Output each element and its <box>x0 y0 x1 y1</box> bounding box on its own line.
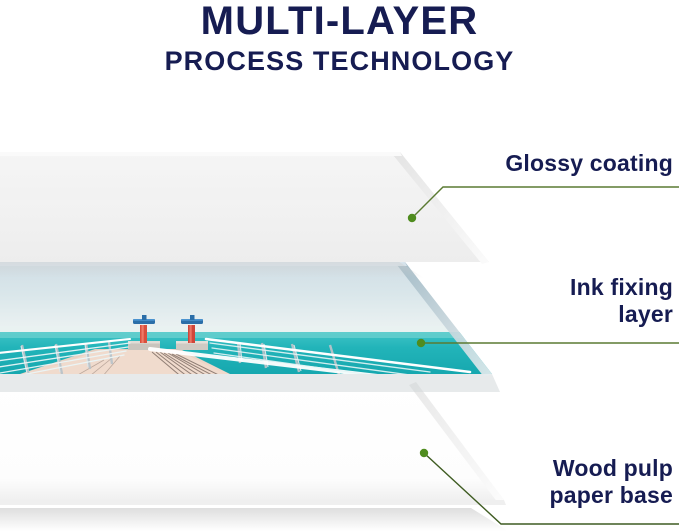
title-line-1: MULTI-LAYER <box>0 0 679 41</box>
label-ink-fixing-layer: Ink fixing layer <box>353 274 673 328</box>
label-wood-pulp-paper-base: Wood pulp paper base <box>353 455 673 509</box>
page-title: MULTI-LAYER PROCESS TECHNOLOGY <box>0 0 679 77</box>
layer-stack <box>0 0 679 531</box>
label-glossy-coating: Glossy coating <box>353 150 673 177</box>
title-line-2: PROCESS TECHNOLOGY <box>0 41 679 77</box>
diagram-canvas: MULTI-LAYER PROCESS TECHNOLOGY <box>0 0 679 531</box>
